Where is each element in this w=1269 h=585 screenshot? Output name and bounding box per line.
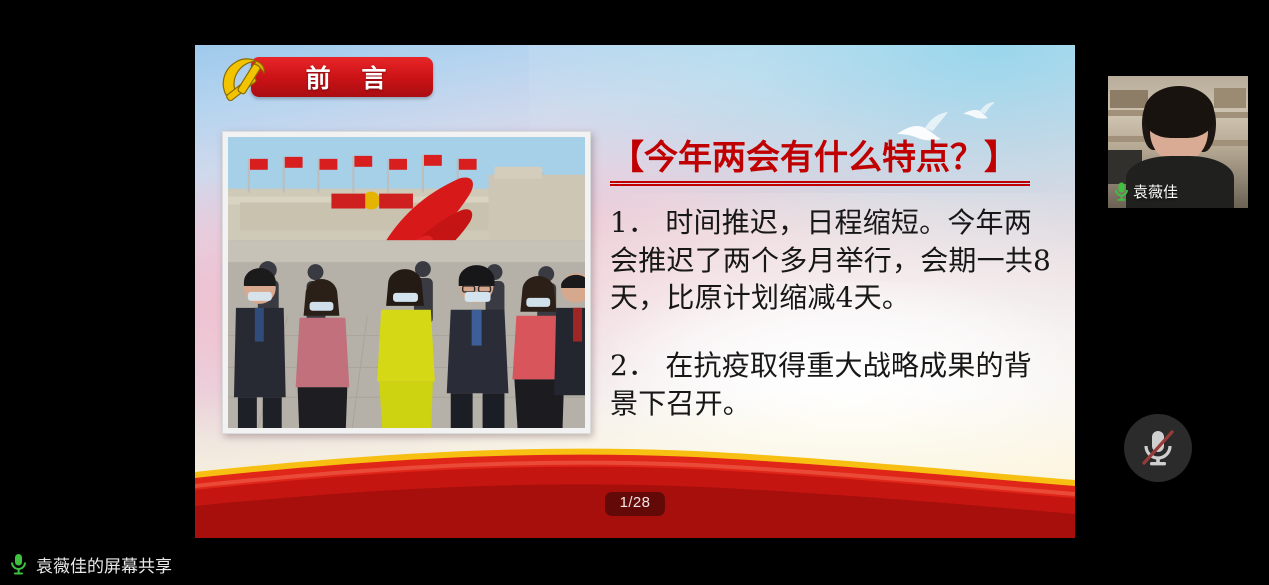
meeting-stage: 前 言 (0, 0, 1269, 585)
slide-paragraph-2: 2． 在抗疫取得重大战略成果的背景下召开。 (610, 347, 1060, 422)
screen-share-status-bar: 袁薇佳的屏幕共享 (0, 543, 1269, 585)
shelf-decor (1212, 112, 1248, 118)
mute-microphone-button[interactable] (1124, 414, 1192, 482)
slide-title-banner: 前 言 (216, 55, 433, 99)
hammer-and-sickle-icon (216, 53, 270, 101)
slide-page-indicator: 1/28 (605, 492, 665, 516)
shelf-decor (1212, 140, 1248, 146)
slide-photo (228, 137, 585, 428)
microphone-muted-icon (1139, 427, 1177, 469)
microphone-active-icon[interactable] (10, 553, 27, 575)
microphone-active-icon (1114, 182, 1129, 201)
slide-text-column: 【今年两会有什么特点？】 1． 时间推迟，日程缩短。今年两会推迟了两个多月举行，… (610, 139, 1060, 422)
participant-video-tile[interactable]: 袁薇佳 (1108, 76, 1248, 208)
slide-paragraph-1: 1． 时间推迟，日程缩短。今年两会推迟了两个多月举行，会期一共8天，比原计划缩减… (610, 204, 1060, 317)
participant-name-label: 袁薇佳 (1114, 181, 1178, 202)
slide-heading-underline (610, 181, 1030, 186)
slide-heading: 【今年两会有什么特点？】 (610, 139, 1060, 178)
slide-banner-title: 前 言 (295, 59, 398, 95)
shelf-decor (1214, 88, 1246, 108)
slide-photo-frame (222, 131, 591, 434)
participant-hair (1144, 86, 1214, 138)
shelf-decor (1110, 90, 1148, 108)
participant-name: 袁薇佳 (1133, 181, 1178, 202)
shared-slide[interactable]: 前 言 (195, 45, 1075, 538)
slide-footer-ribbon (195, 428, 1075, 538)
screen-share-label: 袁薇佳的屏幕共享 (36, 552, 172, 577)
banner-plate: 前 言 (251, 57, 433, 97)
